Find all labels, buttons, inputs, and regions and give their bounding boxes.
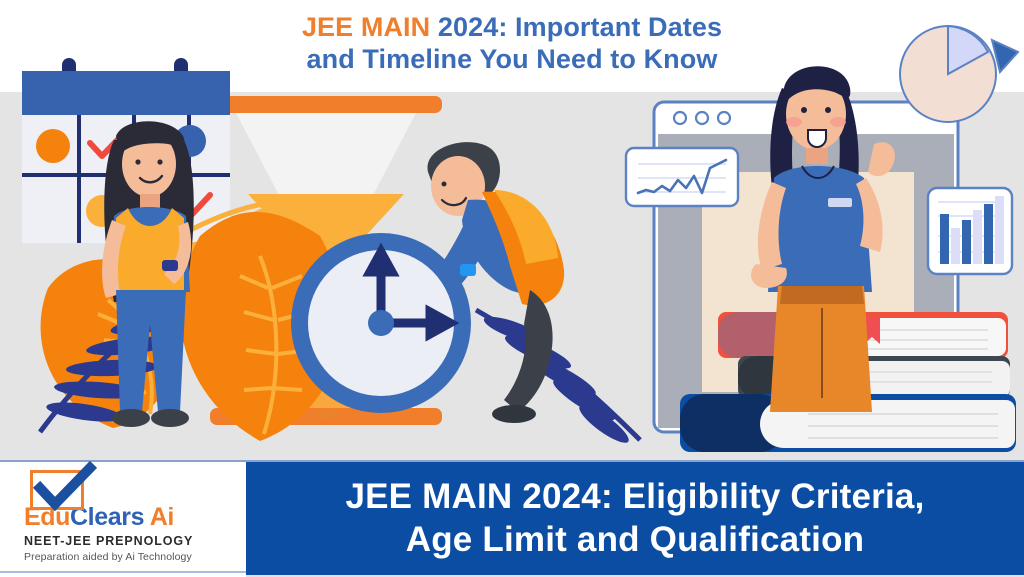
checkmark-icon	[36, 466, 96, 512]
page-title-highlight: JEE MAIN	[302, 12, 430, 42]
line-chart-card	[624, 146, 740, 210]
divider-bottom	[0, 571, 246, 573]
bar-chart-card	[926, 186, 1014, 278]
bottom-banner-line2: Age Limit and Qualification	[406, 519, 865, 562]
page-title: JEE MAIN 2024: Important Dates and Timel…	[0, 12, 1024, 76]
character-presenter	[752, 52, 912, 464]
calendar-gridline	[77, 115, 81, 243]
calendar-dot-orange	[36, 129, 70, 163]
page-title-line2: and Timeline You Need to Know	[0, 44, 1024, 76]
clock-center-pin	[368, 310, 394, 336]
poster-root: JEE MAIN 2024: Important Dates and Timel…	[0, 0, 1024, 577]
logo-subtitle: NEET-JEE PREPNOLOGY	[24, 534, 224, 548]
logo-checkmark-mark	[30, 470, 88, 512]
name-badge	[828, 198, 852, 207]
logo-tagline: Preparation aided by Ai Technology	[24, 551, 224, 563]
character-woman-calendar	[92, 112, 212, 432]
bottom-banner-line1: JEE MAIN 2024: Eligibility Criteria,	[345, 476, 924, 519]
bottom-banner: JEE MAIN 2024: Eligibility Criteria, Age…	[246, 462, 1024, 575]
page-title-line1: JEE MAIN 2024: Important Dates	[0, 12, 1024, 44]
brand-logo[interactable]: EduClears Ai NEET-JEE PREPNOLOGY Prepara…	[24, 470, 224, 563]
clock-graphic	[288, 230, 474, 416]
logo-word-ai: Ai	[144, 503, 174, 531]
calendar-header	[22, 71, 230, 115]
page-title-rest: 2024: Important Dates	[430, 12, 722, 42]
